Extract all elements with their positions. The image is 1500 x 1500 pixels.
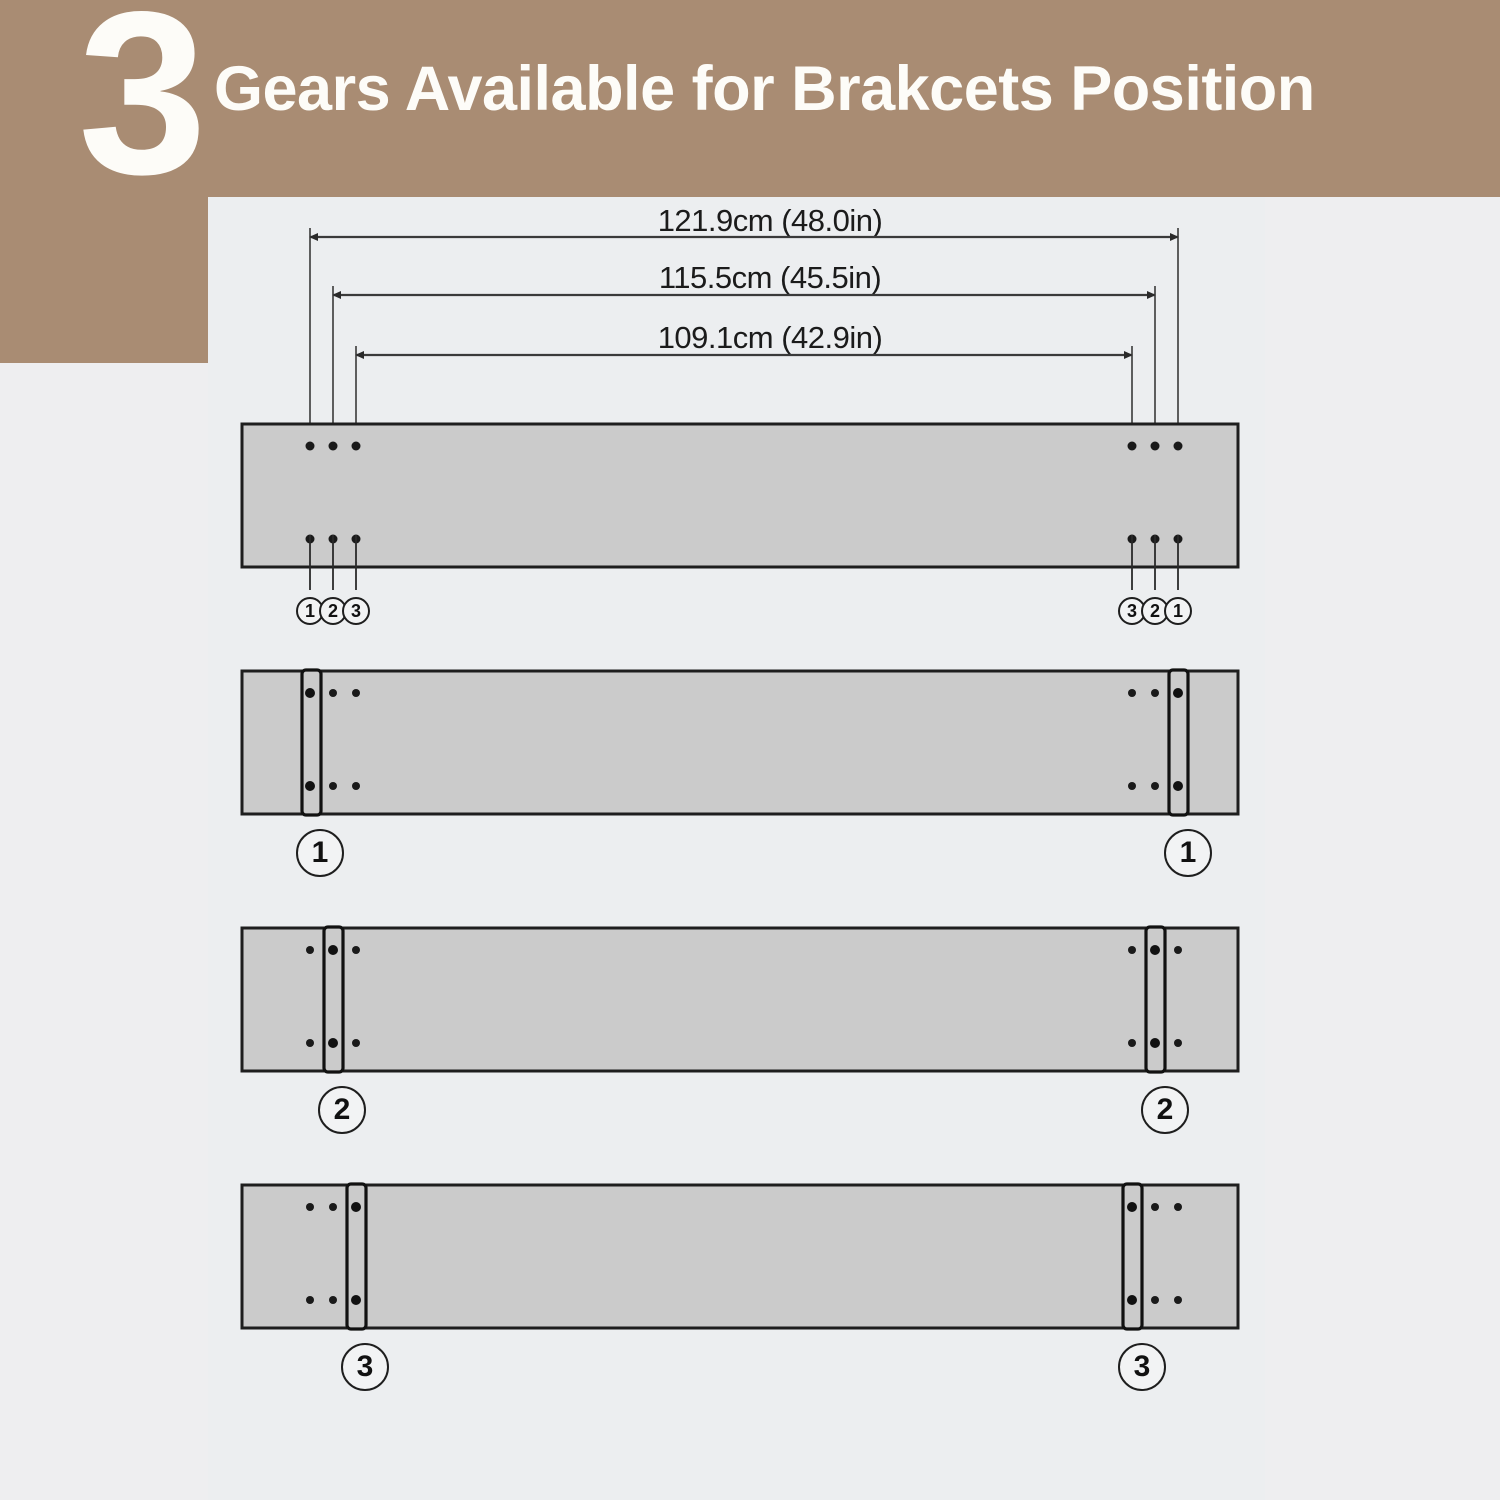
hole-top-right-1 [1174,442,1183,451]
callout-ref-right-1: 1 [1164,597,1192,625]
technical-drawing [0,0,1500,1500]
diagram-page: 3 Gears Available for Brakcets Position … [0,0,1500,1500]
dimension-line-2 [333,286,1155,444]
gear-board-2-group [242,927,1238,1072]
hole-top-right-3 [1128,442,1137,451]
reference-board [242,424,1238,590]
callout-gear-2-right: 2 [1141,1086,1189,1134]
callout-gear-3-left: 3 [341,1343,389,1391]
hole-top-right-2 [1151,442,1160,451]
hole-top-left-3 [352,442,361,451]
gear-board-3-group [242,1184,1238,1329]
hole-top-left-1 [306,442,315,451]
gear-board-1-group [242,670,1238,815]
callout-gear-1-right: 1 [1164,829,1212,877]
hole-top-left-2 [329,442,338,451]
callout-gear-1-left: 1 [296,829,344,877]
callout-gear-3-right: 3 [1118,1343,1166,1391]
dimension-line-1 [310,228,1178,444]
callout-gear-2-left: 2 [318,1086,366,1134]
callout-ref-left-3: 3 [342,597,370,625]
